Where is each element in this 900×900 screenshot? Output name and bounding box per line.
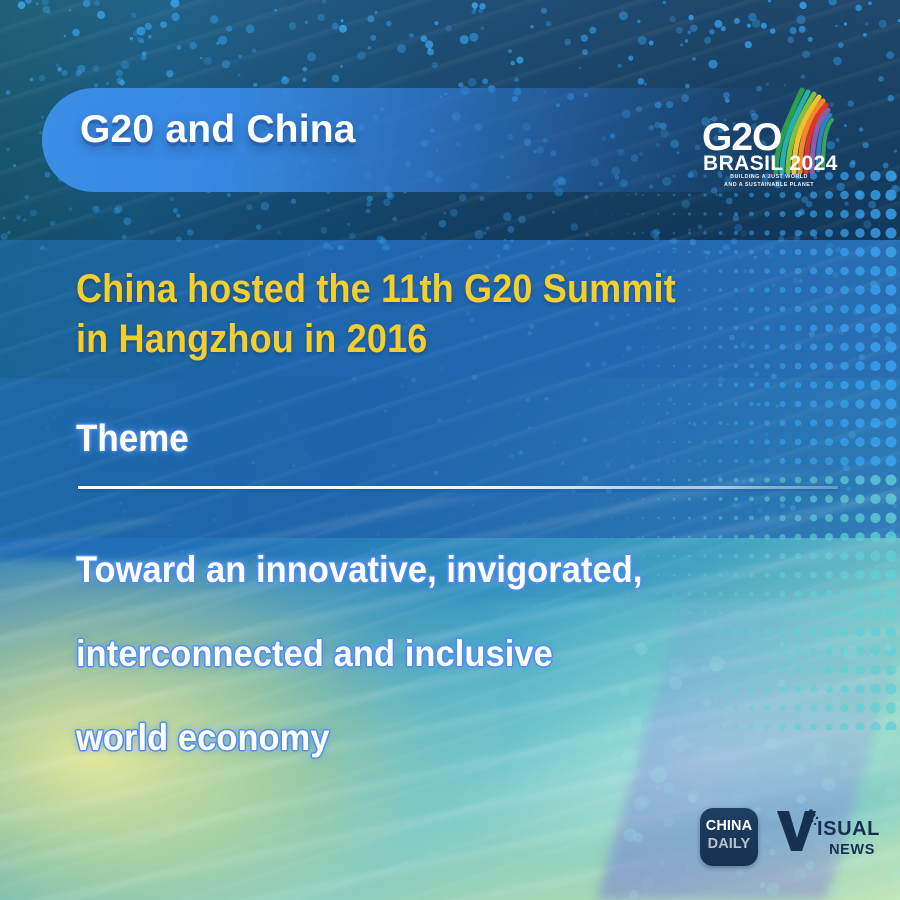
- visual-news-logo: ISUAL NEWS: [775, 806, 875, 868]
- china-daily-line2: DAILY: [700, 836, 758, 852]
- theme-label: Theme: [76, 418, 189, 461]
- page-title: G20 and China: [80, 108, 356, 152]
- g20-tagline-line1: BUILDING A JUST WORLD: [730, 174, 808, 180]
- theme-line-2: interconnected and inclusive: [76, 612, 783, 696]
- theme-text: Toward an innovative, invigorated, inter…: [76, 528, 783, 780]
- headline-text: China hosted the 11th G20 Summit in Hang…: [76, 264, 706, 364]
- visual-news-sub: NEWS: [817, 842, 875, 858]
- theme-line-1: Toward an innovative, invigorated,: [76, 528, 783, 612]
- g20-tagline-line2: AND A SUSTAINABLE PLANET: [724, 182, 814, 188]
- g20-logo-country-year: BRASIL 2024: [703, 152, 838, 176]
- china-daily-logo: CHINA DAILY: [700, 808, 758, 866]
- visual-news-word: ISUAL: [817, 818, 880, 841]
- theme-divider: [78, 486, 838, 489]
- visual-news-v-icon: [775, 808, 819, 852]
- infographic-canvas: G20 and China G2O BRASIL 2024 BUILDING A…: [0, 0, 900, 900]
- g20-brasil-logo: G2O BRASIL 2024 BUILDING A JUST WORLD AN…: [700, 88, 840, 192]
- china-daily-line1: CHINA: [700, 818, 758, 834]
- theme-line-3: world economy: [76, 696, 783, 780]
- g20-logo-tagline: BUILDING A JUST WORLD AND A SUSTAINABLE …: [714, 174, 824, 189]
